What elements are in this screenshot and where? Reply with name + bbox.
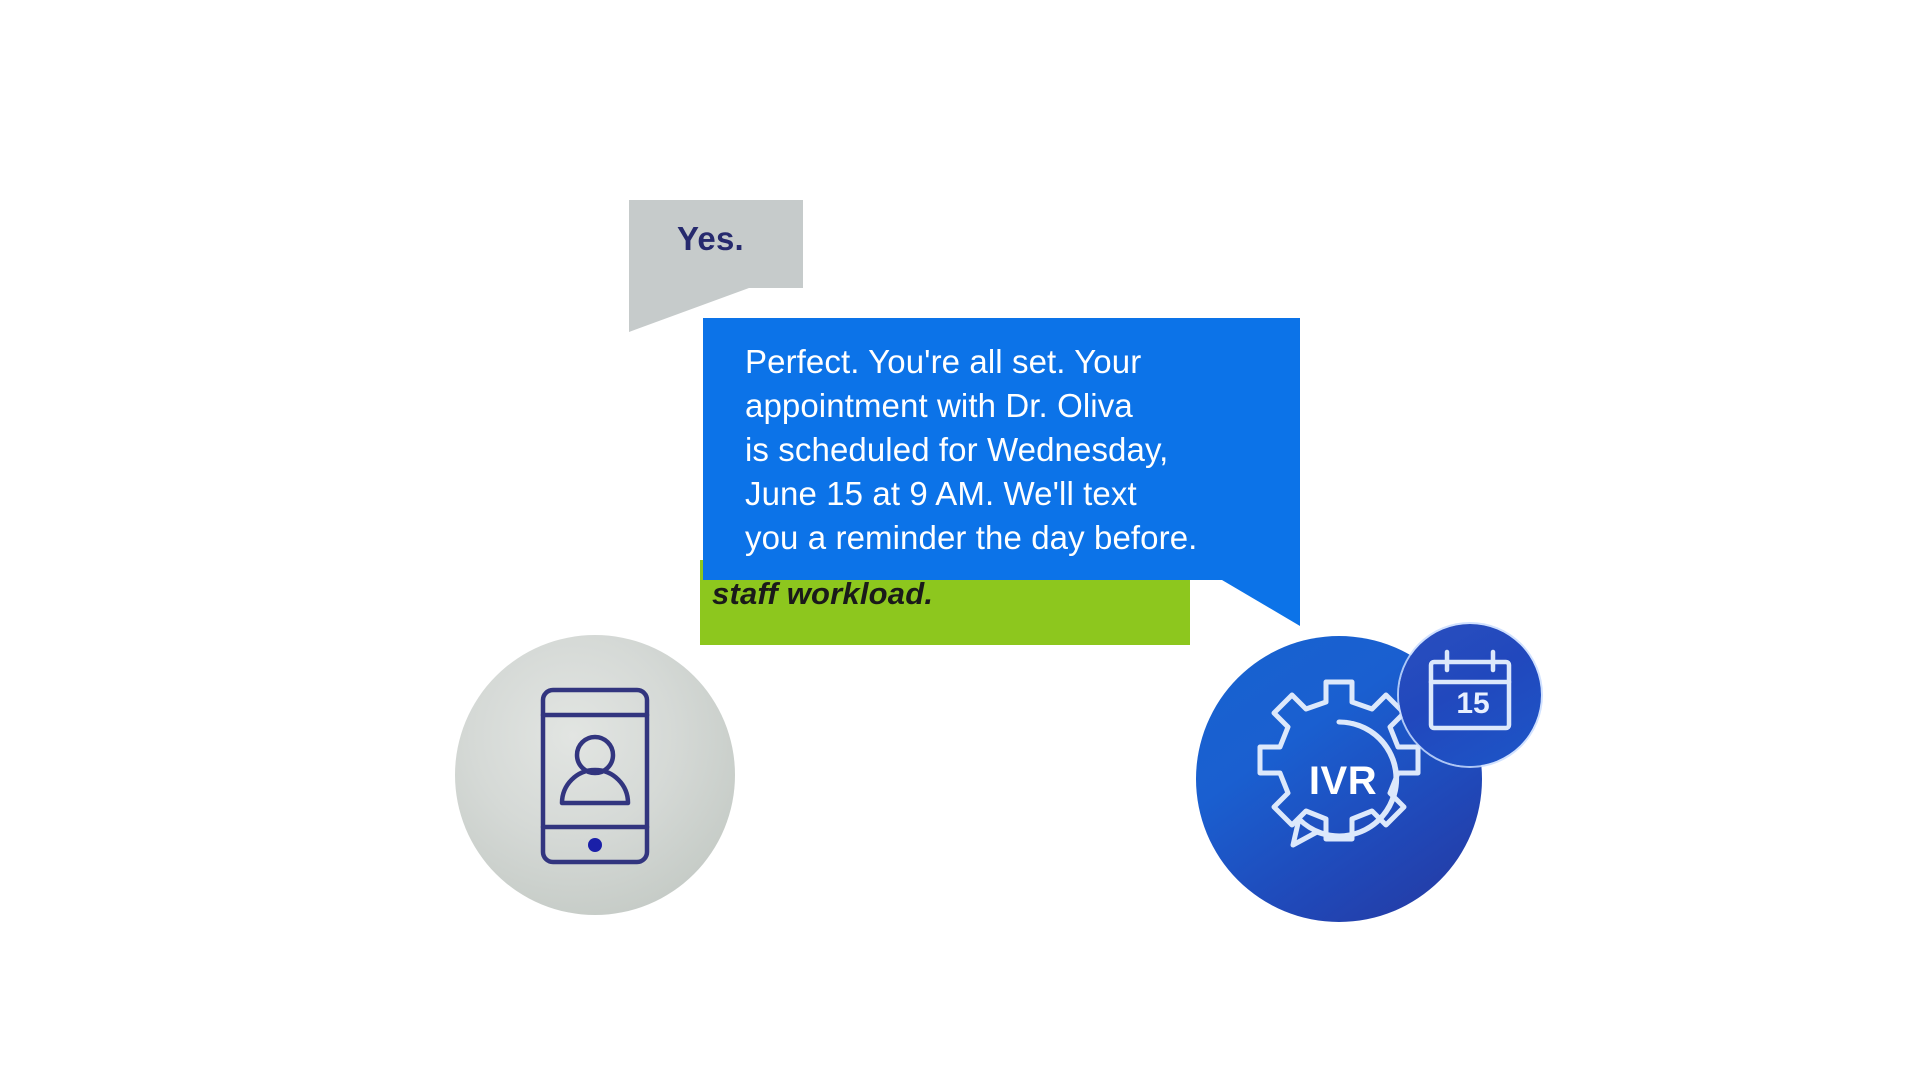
home-button-dot (588, 838, 602, 852)
highlight-caption-visible-line: staff workload. (712, 576, 933, 612)
caller-avatar-circle (455, 635, 735, 915)
caller-reply-text: Yes. (677, 220, 744, 258)
system-message-line-2: appointment with Dr. Oliva (745, 384, 1285, 428)
system-message-line-4: June 15 at 9 AM. We'll text (745, 472, 1285, 516)
slide-canvas: Yes. reducing staffing and lowering staf… (0, 0, 1914, 1080)
system-message-bubble-tail (1222, 580, 1300, 626)
calendar-15-icon (1399, 624, 1541, 766)
system-message-line-1: Perfect. You're all set. Your (745, 340, 1285, 384)
system-message-text: Perfect. You're all set. Your appointmen… (745, 340, 1285, 560)
smartphone-person-icon (455, 635, 735, 915)
system-message-line-3: is scheduled for Wednesday, (745, 428, 1285, 472)
calendar-badge-circle: 15 (1399, 624, 1541, 766)
caller-reply-bubble: Yes. (629, 200, 803, 288)
system-message-bubble: Perfect. You're all set. Your appointmen… (703, 318, 1300, 580)
system-message-line-5: you a reminder the day before. (745, 516, 1285, 560)
